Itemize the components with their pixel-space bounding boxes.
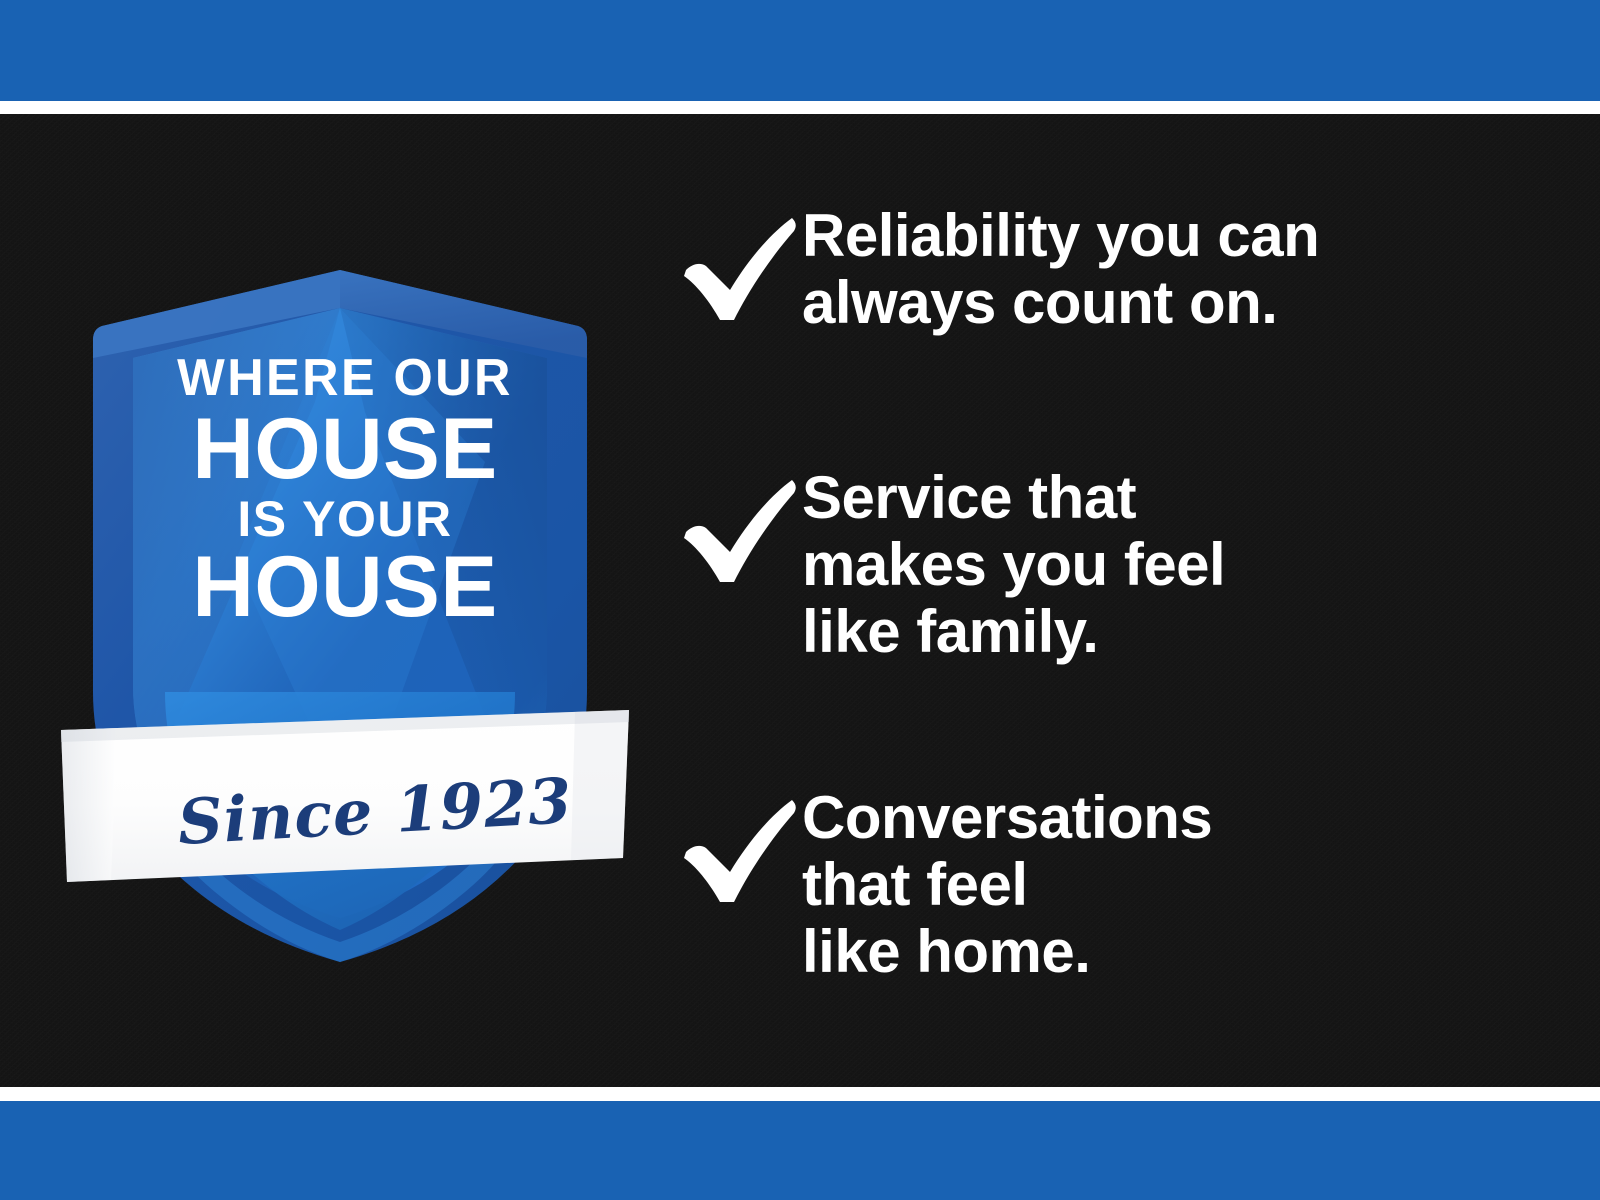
benefits-list: Reliability you can always count on. Ser… <box>670 200 1570 1030</box>
check-icon <box>670 470 802 590</box>
bottom-white-divider <box>0 1087 1600 1101</box>
badge-line-is-your: IS YOUR <box>115 496 575 543</box>
benefit-line: like home. <box>802 918 1570 985</box>
benefit-line: that feel <box>802 851 1570 918</box>
benefit-line: like family. <box>802 598 1570 665</box>
shield-badge: WHERE OUR HOUSE IS YOUR HOUSE Since 1923 <box>55 262 635 942</box>
benefit-item-service: Service that makes you feel like family. <box>670 462 1570 666</box>
check-icon <box>670 208 802 328</box>
bottom-brand-bar <box>0 1101 1600 1200</box>
badge-line-house-1: HOUSE <box>117 409 572 490</box>
benefit-line: makes you feel <box>802 531 1570 598</box>
benefit-text-reliability: Reliability you can always count on. <box>802 200 1570 336</box>
badge-line-house-2: HOUSE <box>117 547 572 628</box>
benefit-line: always count on. <box>802 269 1570 336</box>
check-icon <box>670 790 802 910</box>
badge-lockup: WHERE OUR HOUSE IS YOUR HOUSE <box>115 354 575 628</box>
top-brand-bar <box>0 0 1600 101</box>
promo-graphic: WHERE OUR HOUSE IS YOUR HOUSE Since 1923… <box>0 0 1600 1200</box>
benefit-text-service: Service that makes you feel like family. <box>802 462 1570 666</box>
benefit-line: Service that <box>802 464 1570 531</box>
benefit-item-reliability: Reliability you can always count on. <box>670 200 1570 336</box>
benefit-item-conversations: Conversations that feel like home. <box>670 782 1570 986</box>
ribbon-fold-left <box>61 728 117 882</box>
benefit-text-conversations: Conversations that feel like home. <box>802 782 1570 986</box>
top-white-divider <box>0 101 1600 114</box>
benefit-line: Conversations <box>802 784 1570 851</box>
benefit-line: Reliability you can <box>802 202 1570 269</box>
main-canvas: WHERE OUR HOUSE IS YOUR HOUSE Since 1923… <box>0 114 1600 1087</box>
badge-line-where: WHERE OUR <box>122 354 568 403</box>
